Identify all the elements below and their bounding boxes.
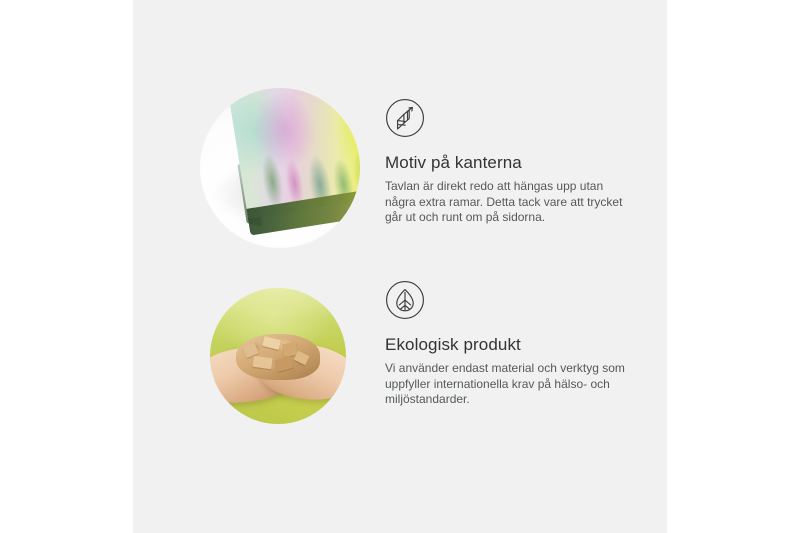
wood-chips-pile bbox=[236, 334, 320, 380]
canvas-slab bbox=[226, 88, 360, 248]
feature-title: Motiv på kanterna bbox=[385, 152, 657, 173]
content-panel: Motiv på kanterna Tavlan är direkt redo … bbox=[133, 0, 667, 533]
feature-body: Vi använder endast material och verktyg … bbox=[385, 361, 637, 408]
feature-text-canvas-edges: Motiv på kanterna Tavlan är direkt redo … bbox=[385, 98, 657, 226]
leaf-icon bbox=[385, 280, 425, 320]
feature-text-eco-product: Ekologisk produkt Vi använder endast mat… bbox=[385, 280, 657, 408]
wood-chip bbox=[275, 356, 294, 372]
wood-chip bbox=[293, 350, 310, 365]
feature-body: Tavlan är direkt redo att hängas upp uta… bbox=[385, 179, 637, 226]
wood-chips-in-hands-photo bbox=[210, 288, 346, 424]
product-feature-banner: Motiv på kanterna Tavlan är direkt redo … bbox=[0, 0, 800, 533]
wood-chip bbox=[262, 336, 281, 350]
feature-block-canvas-edges: Motiv på kanterna Tavlan är direkt redo … bbox=[133, 70, 667, 270]
canvas-wrapped-edge-icon bbox=[385, 98, 425, 138]
feature-title: Ekologisk produkt bbox=[385, 334, 657, 355]
canvas-corner-photo bbox=[200, 88, 360, 248]
feature-block-eco-product: Ekologisk produkt Vi använder endast mat… bbox=[133, 268, 667, 448]
wood-chip bbox=[252, 356, 272, 370]
